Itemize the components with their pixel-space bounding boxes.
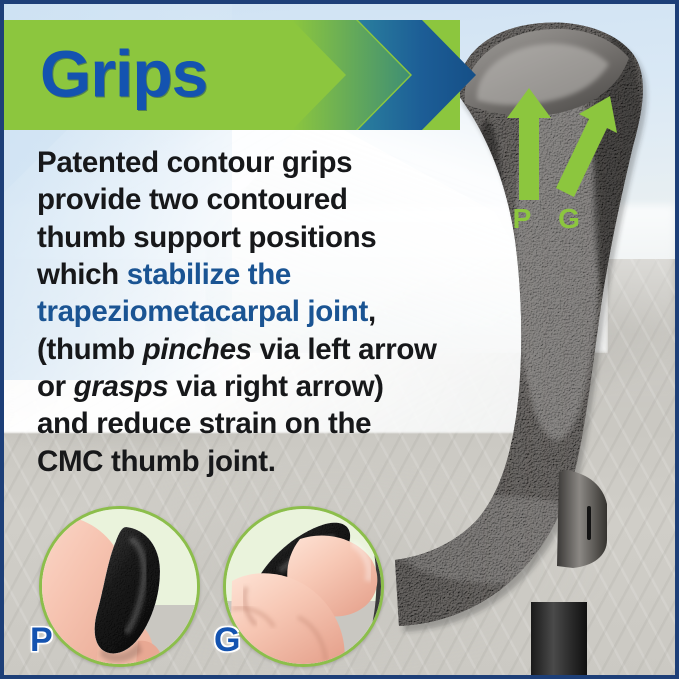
pinch-photo	[39, 506, 200, 667]
grasp-photo	[223, 506, 384, 667]
pinch-hand-illustration	[42, 509, 197, 664]
desc-line-4: which stabilize the	[37, 256, 467, 293]
page-title: Grips	[40, 41, 207, 107]
desc-line-7: or grasps via right arrow)	[37, 368, 467, 405]
italic-grasps: grasps	[74, 370, 169, 403]
desc-line-1: Patented contour grips	[37, 144, 467, 181]
desc-line-9: CMC thumb joint.	[37, 443, 467, 480]
chevron-arrow-group	[226, 20, 476, 130]
desc-line-5: trapeziometacarpal joint,	[37, 293, 467, 330]
product-infographic-poster: P G Grips Patented contour grips provide…	[0, 0, 679, 679]
demo-photo-row: P G	[4, 485, 404, 675]
pinch-photo-label: P	[30, 623, 53, 657]
desc-line-2: provide two contoured	[37, 181, 467, 218]
desc-line-8: and reduce strain on the	[37, 405, 467, 442]
grasp-hand-illustration	[226, 509, 381, 664]
grasp-photo-label: G	[214, 623, 240, 657]
description-text: Patented contour grips provide two conto…	[37, 144, 467, 480]
highlight-joint: trapeziometacarpal joint	[37, 295, 368, 328]
highlight-stabilize: stabilize the	[127, 258, 291, 291]
desc-line-3: thumb support positions	[37, 219, 467, 256]
desc-line-6: (thumb pinches via left arrow	[37, 331, 467, 368]
italic-pinches: pinches	[143, 333, 252, 366]
